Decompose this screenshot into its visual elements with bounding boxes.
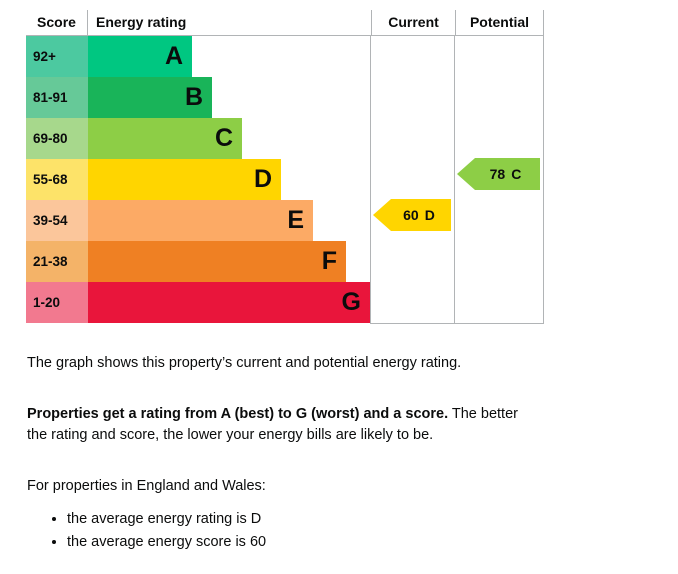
list-item: the average energy rating is D [67, 509, 587, 530]
current-score-value: 60 [403, 207, 419, 223]
band-row: 81-91 B [26, 77, 370, 118]
band-letter-a: A [165, 44, 183, 69]
epc-description: The graph shows this property’s current … [27, 353, 587, 555]
band-score-a: 92+ [26, 36, 88, 77]
band-row: 92+ A [26, 36, 370, 77]
band-letter-b: B [185, 85, 203, 110]
potential-rating-badge: 78 C [457, 158, 540, 190]
band-bar-e: E [88, 200, 313, 241]
column-header-potential: Potential [455, 10, 544, 35]
epc-chart: Score Energy rating Current Potential 92… [26, 10, 544, 323]
column-header-current: Current [371, 10, 455, 35]
band-letter-c: C [215, 126, 233, 151]
band-row: 69-80 C [26, 118, 370, 159]
band-row-list: 92+ A 81-91 B 69-80 C 55-68 [26, 36, 370, 323]
rating-explanation-bold: Properties get a rating from A (best) to… [27, 406, 448, 422]
potential-score-value: 78 [490, 166, 506, 182]
band-bar-d: D [88, 159, 281, 200]
band-score-b: 81-91 [26, 77, 88, 118]
band-bar-c: C [88, 118, 242, 159]
band-bar-b: B [88, 77, 212, 118]
potential-rating-letter: C [511, 166, 521, 182]
table-bottom-rule [370, 323, 544, 324]
band-bar-a: A [88, 36, 192, 77]
band-row: 39-54 E [26, 200, 370, 241]
band-letter-g: G [342, 290, 361, 315]
column-divider-left [370, 36, 371, 323]
list-item: the average energy score is 60 [67, 532, 587, 553]
band-letter-e: E [287, 208, 304, 233]
epc-table-header: Score Energy rating Current Potential [26, 10, 544, 36]
band-row: 55-68 D [26, 159, 370, 200]
band-bar-f: F [88, 241, 346, 282]
current-rating-letter: D [425, 207, 435, 223]
band-bar-g: G [88, 282, 370, 323]
band-letter-d: D [254, 167, 272, 192]
epc-chart-body: 92+ A 81-91 B 69-80 C 55-68 [26, 36, 544, 323]
rating-explanation-paragraph: Properties get a rating from A (best) to… [27, 404, 541, 446]
average-stats-list: the average energy rating is D the avera… [27, 509, 587, 553]
band-score-f: 21-38 [26, 241, 88, 282]
band-score-d: 55-68 [26, 159, 88, 200]
column-header-score: Score [26, 10, 88, 35]
band-score-g: 1-20 [26, 282, 88, 323]
region-heading: For properties in England and Wales: [27, 476, 587, 497]
column-divider-middle [454, 36, 455, 323]
band-letter-f: F [322, 249, 337, 274]
current-rating-badge: 60 D [373, 199, 451, 231]
column-divider-right [543, 36, 544, 323]
intro-paragraph: The graph shows this property’s current … [27, 353, 587, 374]
band-row: 1-20 G [26, 282, 370, 323]
band-score-e: 39-54 [26, 200, 88, 241]
band-row: 21-38 F [26, 241, 370, 282]
column-header-energy-rating: Energy rating [88, 10, 371, 35]
band-score-c: 69-80 [26, 118, 88, 159]
